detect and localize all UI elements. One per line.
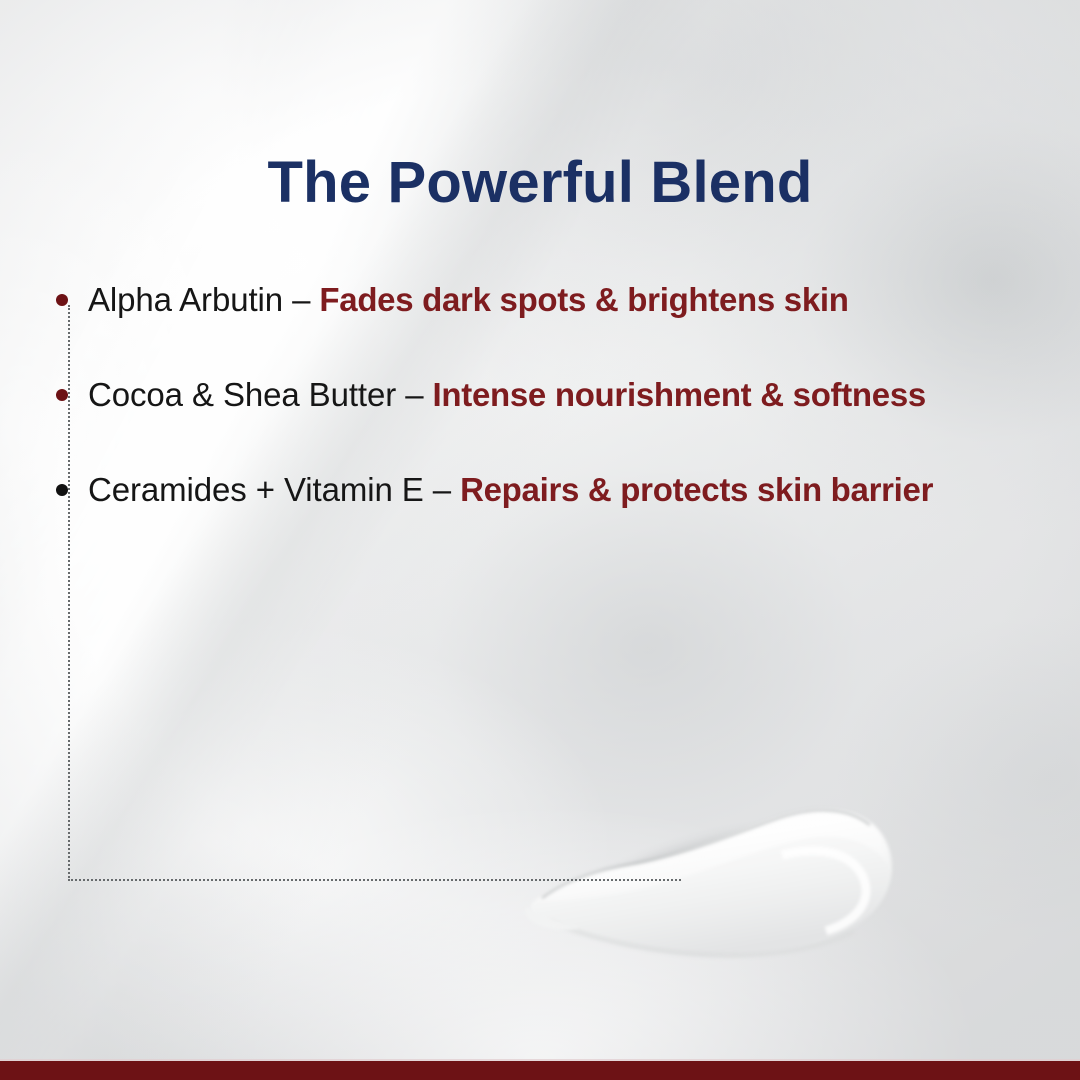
footer-accent-bar-icon — [0, 1061, 1080, 1080]
ingredient-separator: – — [424, 471, 460, 508]
bullet-dot-icon — [56, 389, 68, 401]
ingredient-name: Cocoa & Shea Butter — [88, 376, 405, 413]
bullet-dot-icon — [56, 484, 68, 496]
ingredient-benefit: Intense nourishment & softness — [433, 376, 926, 413]
cream-swoosh-icon — [520, 735, 970, 975]
ingredient-list: Alpha Arbutin – Fades dark spots & brigh… — [56, 276, 1066, 561]
list-item: Cocoa & Shea Butter – Intense nourishmen… — [56, 371, 1066, 466]
ingredient-name: Alpha Arbutin — [88, 281, 283, 318]
dotted-connector-horizontal-icon — [68, 879, 681, 881]
ingredient-name: Ceramides + Vitamin E — [88, 471, 424, 508]
bullet-dot-icon — [56, 294, 68, 306]
ingredient-separator: – — [405, 376, 432, 413]
ingredient-line: Cocoa & Shea Butter – Intense nourishmen… — [88, 371, 926, 419]
page-title: The Powerful Blend — [0, 151, 1080, 215]
ingredient-benefit: Fades dark spots & brightens skin — [319, 281, 848, 318]
list-item: Ceramides + Vitamin E – Repairs & protec… — [56, 466, 1066, 561]
ingredient-line: Ceramides + Vitamin E – Repairs & protec… — [88, 466, 933, 514]
list-item: Alpha Arbutin – Fades dark spots & brigh… — [56, 276, 1066, 371]
ingredient-benefit: Repairs & protects skin barrier — [460, 471, 933, 508]
slide-canvas: The Powerful Blend Alpha Arbutin – Fades… — [0, 0, 1080, 1080]
ingredient-separator: – — [283, 281, 319, 318]
ingredient-line: Alpha Arbutin – Fades dark spots & brigh… — [88, 276, 849, 324]
